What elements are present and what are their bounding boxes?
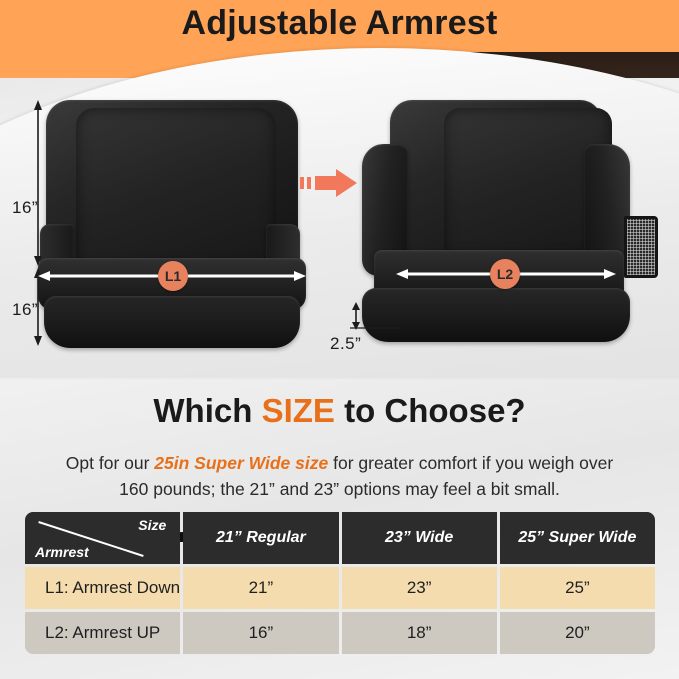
corner-cell: Size Armrest bbox=[25, 512, 180, 564]
heading-part-before: Which bbox=[153, 392, 261, 429]
heading-part-after: to Choose? bbox=[335, 392, 526, 429]
cell-l2-21: 16” bbox=[183, 612, 338, 654]
column-header-25-super-wide: 25” Super Wide bbox=[500, 512, 655, 564]
cell-l1-25: 25” bbox=[500, 567, 655, 609]
copy-after: for greater comfort if you weigh over bbox=[328, 453, 613, 473]
row-label-l2: L2: Armrest UP bbox=[25, 612, 180, 654]
table-head: Size Armrest 21” Regular 23” Wide 25” Su… bbox=[25, 512, 655, 564]
size-comparison-table: Size Armrest 21” Regular 23” Wide 25” Su… bbox=[22, 509, 658, 657]
corner-label-armrest: Armrest bbox=[35, 544, 89, 560]
size-section-heading: Which SIZE to Choose? bbox=[0, 392, 679, 430]
right-chair-base-height-label: 2.5” bbox=[330, 334, 361, 354]
table-corner-header: Size Armrest bbox=[25, 512, 180, 564]
column-header-23-wide: 23” Wide bbox=[342, 512, 497, 564]
right-arrow-icon bbox=[300, 166, 360, 200]
table-header-row: Size Armrest 21” Regular 23” Wide 25” Su… bbox=[25, 512, 655, 564]
column-header-21-regular: 21” Regular bbox=[183, 512, 338, 564]
corner-label-size: Size bbox=[138, 517, 166, 533]
table-body: L1: Armrest Down 21” 23” 25” L2: Armrest… bbox=[25, 567, 655, 654]
table-row-l1: L1: Armrest Down 21” 23” 25” bbox=[25, 567, 655, 609]
copy-before: Opt for our bbox=[66, 453, 155, 473]
table-row-l2: L2: Armrest UP 16” 18” 20” bbox=[25, 612, 655, 654]
page-title: Adjustable Armrest bbox=[0, 4, 679, 43]
badge-l2: L2 bbox=[490, 259, 520, 289]
copy-accent-super-wide: 25in Super Wide size bbox=[154, 453, 328, 473]
product-illustration-area: 16” 16” 2.5” L1 L2 bbox=[0, 78, 679, 388]
copy-line-2: 160 pounds; the 21” and 23” options may … bbox=[119, 479, 560, 499]
badge-l1: L1 bbox=[158, 261, 188, 291]
size-recommendation-copy: Opt for our 25in Super Wide size for gre… bbox=[36, 450, 643, 502]
heading-accent-size: SIZE bbox=[262, 392, 335, 429]
left-chair-seat-height-label: 16” bbox=[12, 300, 38, 320]
cell-l2-25: 20” bbox=[500, 612, 655, 654]
cell-l1-23: 23” bbox=[342, 567, 497, 609]
cell-l1-21: 21” bbox=[183, 567, 338, 609]
product-infographic: Adjustable Armrest bbox=[0, 0, 679, 679]
left-chair-back-height-label: 16” bbox=[12, 198, 38, 218]
row-label-l1: L1: Armrest Down bbox=[25, 567, 180, 609]
cell-l2-23: 18” bbox=[342, 612, 497, 654]
